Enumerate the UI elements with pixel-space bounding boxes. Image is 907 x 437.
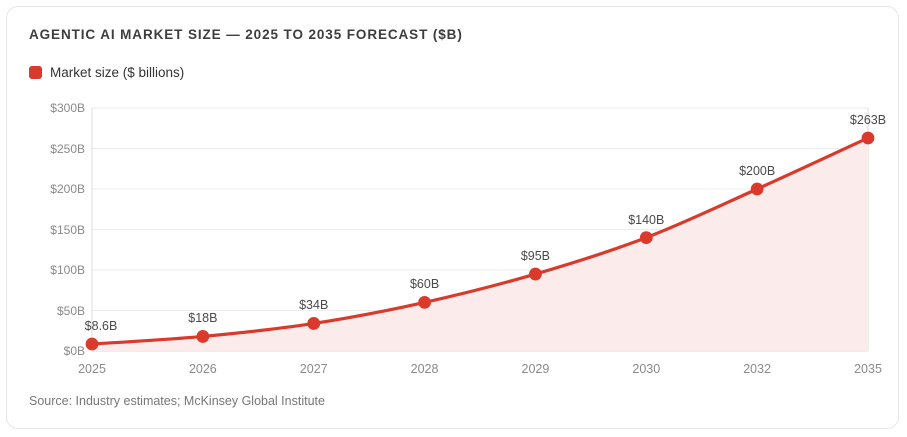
data-point-label: $34B xyxy=(299,298,328,312)
data-point-label: $95B xyxy=(521,249,550,263)
data-point-labels: $8.6B$18B$34B$60B$95B$140B$200B$263B xyxy=(7,7,900,430)
data-point-label: $60B xyxy=(410,277,439,291)
data-point-label: $18B xyxy=(188,311,217,325)
data-point-label: $263B xyxy=(850,113,886,127)
data-point-label: $8.6B xyxy=(85,319,118,333)
source-note: Source: Industry estimates; McKinsey Glo… xyxy=(29,394,325,408)
data-point-label: $200B xyxy=(739,164,775,178)
data-point-label: $140B xyxy=(628,213,664,227)
chart-plot-area: $0B$50B$100B$150B$200B$250B$300B 2025202… xyxy=(7,7,900,430)
chart-card: AGENTIC AI MARKET SIZE — 2025 TO 2035 FO… xyxy=(6,6,899,429)
